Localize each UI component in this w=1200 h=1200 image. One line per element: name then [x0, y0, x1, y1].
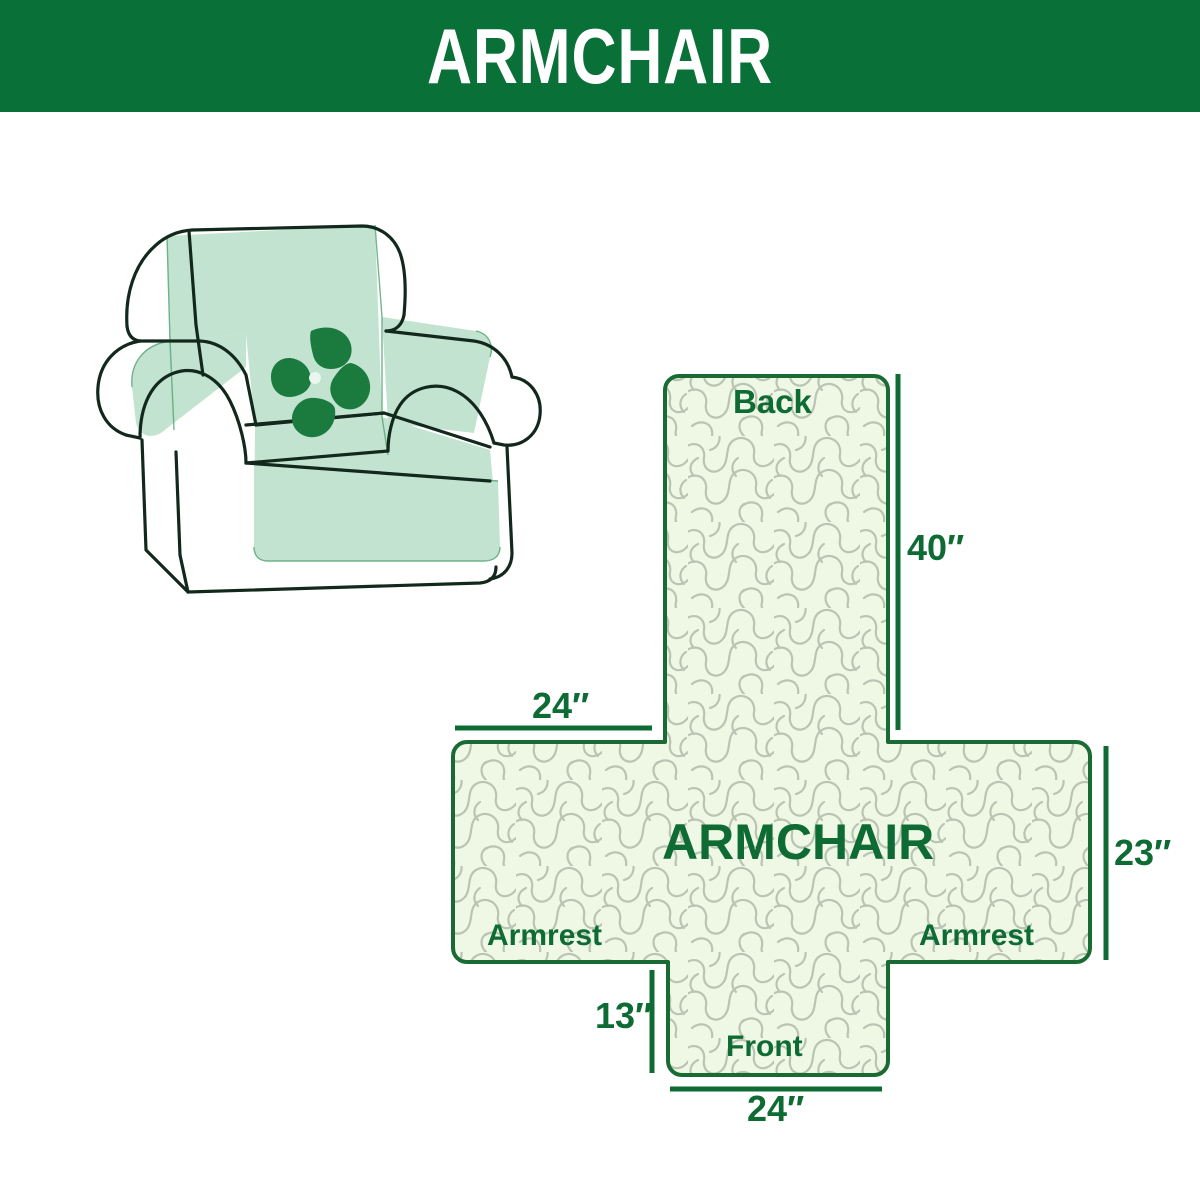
pattern-center-label: ARMCHAIR	[662, 813, 934, 871]
dimension-label-back-length: 40″	[907, 527, 964, 569]
section-label-back: Back	[733, 383, 812, 421]
product-size-diagram-page: ARMCHAIR	[0, 0, 1200, 1200]
page-title: ARMCHAIR	[120, 0, 1080, 112]
cover-pattern-diagram: Back ARMCHAIR Armrest Armrest Front 40″ …	[430, 350, 1190, 1140]
backrest-left-edge	[127, 326, 140, 341]
left-arm-inner-front	[176, 452, 188, 592]
header-bar: ARMCHAIR	[0, 0, 1200, 112]
dimension-label-front-width: 24″	[747, 1088, 804, 1130]
pattern-diagram-svg	[430, 350, 1190, 1140]
pinwheel-hub	[309, 372, 321, 384]
left-arm-front-face	[142, 440, 188, 592]
section-label-armrest-right: Armrest	[919, 919, 1034, 953]
section-label-armrest-left: Armrest	[487, 919, 602, 953]
dimension-label-front-drop: 13″	[595, 995, 652, 1037]
dimension-label-back-width: 24″	[532, 685, 589, 727]
section-label-front: Front	[726, 1030, 803, 1064]
dimension-label-seat-depth: 23″	[1114, 832, 1171, 874]
